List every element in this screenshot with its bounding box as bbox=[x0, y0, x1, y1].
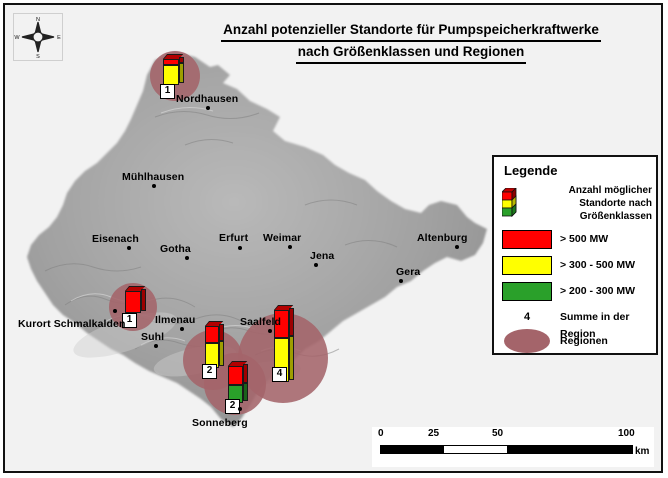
city-dot-suhl bbox=[154, 344, 158, 348]
city-label-jena: Jena bbox=[310, 250, 334, 262]
city-dot-ilmenau bbox=[180, 327, 184, 331]
compass-north: N bbox=[36, 17, 40, 23]
bar-segment-side-0 bbox=[141, 289, 146, 311]
legend-region-label: Regionen bbox=[560, 331, 608, 351]
city-label-erfurt: Erfurt bbox=[219, 232, 248, 244]
city-dot-altenburg bbox=[455, 245, 459, 249]
compass-east: E bbox=[57, 35, 61, 41]
legend-title: Legende bbox=[504, 163, 557, 178]
city-label-suhl: Suhl bbox=[141, 331, 164, 343]
city-dot-saalfeld bbox=[268, 329, 272, 333]
compass-south: S bbox=[36, 54, 40, 60]
city-dot-kurort-schmalkalden bbox=[113, 309, 117, 313]
legend-swatch-1 bbox=[502, 256, 552, 275]
city-label-m-hlhausen: Mühlhausen bbox=[122, 171, 184, 183]
city-label-kurort-schmalkalden: Kurort Schmalkalden bbox=[18, 318, 126, 330]
marker-suhl-south bbox=[205, 326, 219, 368]
bar-segment-1 bbox=[163, 65, 179, 85]
scale-tick-0: 0 bbox=[378, 428, 384, 439]
bar-segment-side-0 bbox=[219, 324, 224, 341]
city-dot-jena bbox=[314, 263, 318, 267]
city-dot-eisenach bbox=[127, 246, 131, 250]
legend-sum-sample: 4 bbox=[502, 309, 552, 326]
legend-panel: Legende Anzahl möglicher Standorte nach … bbox=[492, 155, 658, 355]
city-dot-sonneberg bbox=[238, 407, 242, 411]
city-label-gera: Gera bbox=[396, 266, 420, 278]
stacked-3d-bar-icon bbox=[502, 188, 520, 218]
legend-swatch-2 bbox=[502, 282, 552, 301]
legend-swatch-0 bbox=[502, 230, 552, 249]
city-label-weimar: Weimar bbox=[263, 232, 301, 244]
bar-segment-side-1 bbox=[243, 383, 248, 401]
city-label-gotha: Gotha bbox=[160, 243, 191, 255]
city-label-eisenach: Eisenach bbox=[92, 233, 139, 245]
city-dot-gotha bbox=[185, 256, 189, 260]
legend-label-1: > 300 - 500 MW bbox=[560, 256, 635, 275]
legend-label-0: > 500 MW bbox=[560, 230, 608, 249]
scale-bar-track bbox=[380, 445, 633, 454]
bar-segment-side-1 bbox=[179, 63, 184, 83]
legend-label-2: > 200 - 300 MW bbox=[560, 282, 635, 301]
scale-tick-1: 25 bbox=[428, 428, 439, 439]
compass-west: W bbox=[14, 35, 20, 41]
scale-bar-segment-white bbox=[444, 446, 507, 453]
marker-nordhausen-count: 1 bbox=[160, 84, 175, 99]
city-label-ilmenau: Ilmenau bbox=[155, 314, 195, 326]
marker-ilmenau-west bbox=[125, 291, 141, 313]
legend-subtitle: Anzahl möglicher Standorte nach Größenkl… bbox=[528, 184, 652, 223]
bar-segment-0 bbox=[125, 291, 141, 313]
bar-segment-0 bbox=[228, 366, 243, 385]
scale-tick-3: 100 bbox=[618, 428, 635, 439]
city-dot-nordhausen bbox=[206, 106, 210, 110]
title-line-2: nach Größenklassen und Regionen bbox=[296, 42, 527, 64]
city-label-saalfeld: Saalfeld bbox=[240, 316, 281, 328]
city-dot-weimar bbox=[288, 245, 292, 249]
city-label-nordhausen: Nordhausen bbox=[176, 93, 238, 105]
legend-region-ellipse bbox=[504, 329, 550, 353]
marker-saalfeld-count: 4 bbox=[272, 367, 287, 382]
marker-nordhausen bbox=[163, 59, 179, 85]
map-figure: N E S W Anzahl potenzieller Standorte fü… bbox=[0, 0, 668, 478]
scale-tick-2: 50 bbox=[492, 428, 503, 439]
title-line-1: Anzahl potenzieller Standorte für Pumpsp… bbox=[221, 20, 601, 42]
compass-rose: N E S W bbox=[13, 13, 63, 61]
city-dot-erfurt bbox=[238, 246, 242, 250]
figure-title: Anzahl potenzieller Standorte für Pumpsp… bbox=[176, 20, 646, 64]
city-label-sonneberg: Sonneberg bbox=[192, 417, 248, 429]
marker-suhl-south-count: 2 bbox=[202, 364, 217, 379]
bar-segment-side-1 bbox=[289, 336, 294, 380]
marker-sonneberg bbox=[228, 366, 243, 403]
bar-segment-side-0 bbox=[243, 364, 248, 383]
scale-unit-label: km bbox=[635, 446, 649, 457]
bar-segment-side-0 bbox=[289, 308, 294, 336]
city-dot-m-hlhausen bbox=[152, 184, 156, 188]
bar-segment-0 bbox=[205, 326, 219, 343]
city-label-altenburg: Altenburg bbox=[417, 232, 467, 244]
city-dot-gera bbox=[399, 279, 403, 283]
scale-bar: 0 25 50 100 km bbox=[372, 427, 654, 467]
bar-segment-side-1 bbox=[219, 341, 224, 366]
